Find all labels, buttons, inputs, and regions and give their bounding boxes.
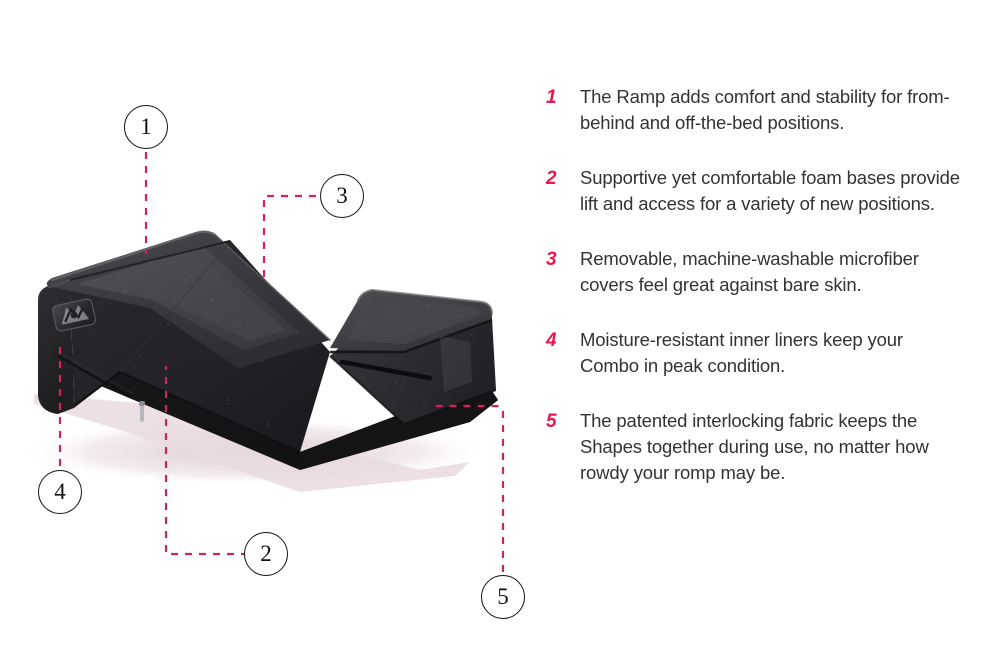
feature-number-2: 2 (546, 165, 580, 192)
feature-item-5: 5 The patented interlocking fabric keeps… (546, 408, 966, 486)
callout-marker-2[interactable]: 2 (244, 532, 288, 576)
callout-marker-1[interactable]: 1 (124, 105, 168, 149)
callout-marker-1-label: 1 (140, 115, 152, 138)
callout-marker-2-label: 2 (260, 542, 272, 565)
callout-marker-3[interactable]: 3 (320, 174, 364, 218)
feature-text-3: Removable, machine-washable microfiber c… (580, 246, 966, 298)
callout-marker-3-label: 3 (336, 184, 348, 207)
feature-text-4: Moisture-resistant inner liners keep you… (580, 327, 966, 379)
feature-list: 1 The Ramp adds comfort and stability fo… (546, 84, 966, 486)
feature-item-3: 3 Removable, machine-washable microfiber… (546, 246, 966, 298)
callout-marker-5-label: 5 (497, 585, 509, 608)
feature-item-2: 2 Supportive yet comfortable foam bases … (546, 165, 966, 217)
feature-item-1: 1 The Ramp adds comfort and stability fo… (546, 84, 966, 136)
callout-marker-4[interactable]: 4 (38, 470, 82, 514)
callout-marker-5[interactable]: 5 (481, 575, 525, 619)
feature-number-5: 5 (546, 408, 580, 435)
feature-number-1: 1 (546, 84, 580, 111)
callout-marker-4-label: 4 (54, 480, 66, 503)
feature-number-4: 4 (546, 327, 580, 354)
feature-text-1: The Ramp adds comfort and stability for … (580, 84, 966, 136)
feature-text-2: Supportive yet comfortable foam bases pr… (580, 165, 966, 217)
diagram-canvas: 1 3 4 2 5 1 The Ramp adds comfort and st… (0, 0, 1000, 666)
feature-item-4: 4 Moisture-resistant inner liners keep y… (546, 327, 966, 379)
feature-number-3: 3 (546, 246, 580, 273)
feature-text-5: The patented interlocking fabric keeps t… (580, 408, 966, 486)
